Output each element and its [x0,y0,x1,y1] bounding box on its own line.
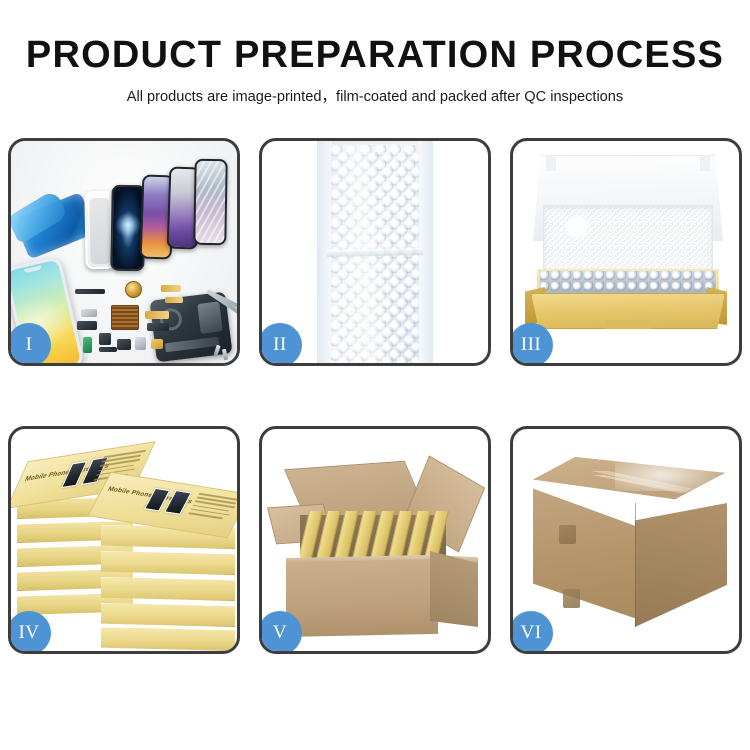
product-preparation-process-page: PRODUCT PREPARATION PROCESS All products… [0,0,750,750]
step-badge-2: II [262,323,302,363]
earpiece-part [75,289,105,294]
carton-side-face [430,551,478,627]
antenna-part [99,347,117,352]
carton-side-face [635,503,727,627]
step-5-image: V [262,429,488,651]
process-step-panel-1: I [8,138,240,366]
process-step-panel-5: V [259,426,491,654]
step-badge-4: IV [11,611,51,651]
open-carton-icon [270,455,486,647]
chip-grid-part [111,305,139,330]
flex-cable-part [161,285,181,292]
spare-parts-group [69,281,217,363]
phone-screen-teal-icon [193,159,227,246]
taptic-part [117,339,131,350]
step-3-image: III [513,141,739,363]
battery-part [83,337,92,353]
page-subtitle: All products are image-printed，film-coat… [0,85,750,106]
process-step-panel-2: II [259,138,491,366]
flex-cable-part [165,297,183,303]
camera-module-part [147,323,169,331]
step-badge-3: III [513,323,553,363]
step-badge-6: VI [513,611,553,651]
metal-bracket-part [81,309,97,317]
connector-part [77,321,97,330]
process-steps-grid: I II [8,138,742,683]
step-1-image: I [11,141,237,363]
box-checklist [187,493,237,523]
camera-flex-part [145,311,169,319]
step-badge-5: V [262,611,302,651]
page-title: PRODUCT PREPARATION PROCESS [0,36,750,76]
carton-front-face [286,559,438,637]
sim-tray-part [135,337,146,350]
carton-tape-patch [559,525,576,544]
process-step-panel-3: III [510,138,742,366]
step-6-image: VI [513,429,739,651]
step-2-image: II [262,141,488,363]
foam-sheet-icon [543,205,713,277]
vibrator-part [99,333,111,345]
stacked-yellow-boxes-icon: Mobile Phone Spare Parts Mobile Phone Sp… [17,451,237,651]
process-step-panel-4: Mobile Phone Spare Parts Mobile Phone Sp… [8,426,240,654]
gold-contact-part [151,339,163,349]
process-step-panel-6: VI [510,426,742,654]
step-badge-1: I [11,323,51,363]
speaker-coil-part [125,281,142,298]
sealed-carton-icon [527,453,731,635]
header: PRODUCT PREPARATION PROCESS All products… [0,0,750,125]
step-4-image: Mobile Phone Spare Parts Mobile Phone Sp… [11,429,237,651]
bubble-wrap-pouch-icon [317,141,433,363]
carton-front-face [533,483,637,619]
carton-tape-patch [563,589,580,608]
box-front-panel [531,293,725,329]
